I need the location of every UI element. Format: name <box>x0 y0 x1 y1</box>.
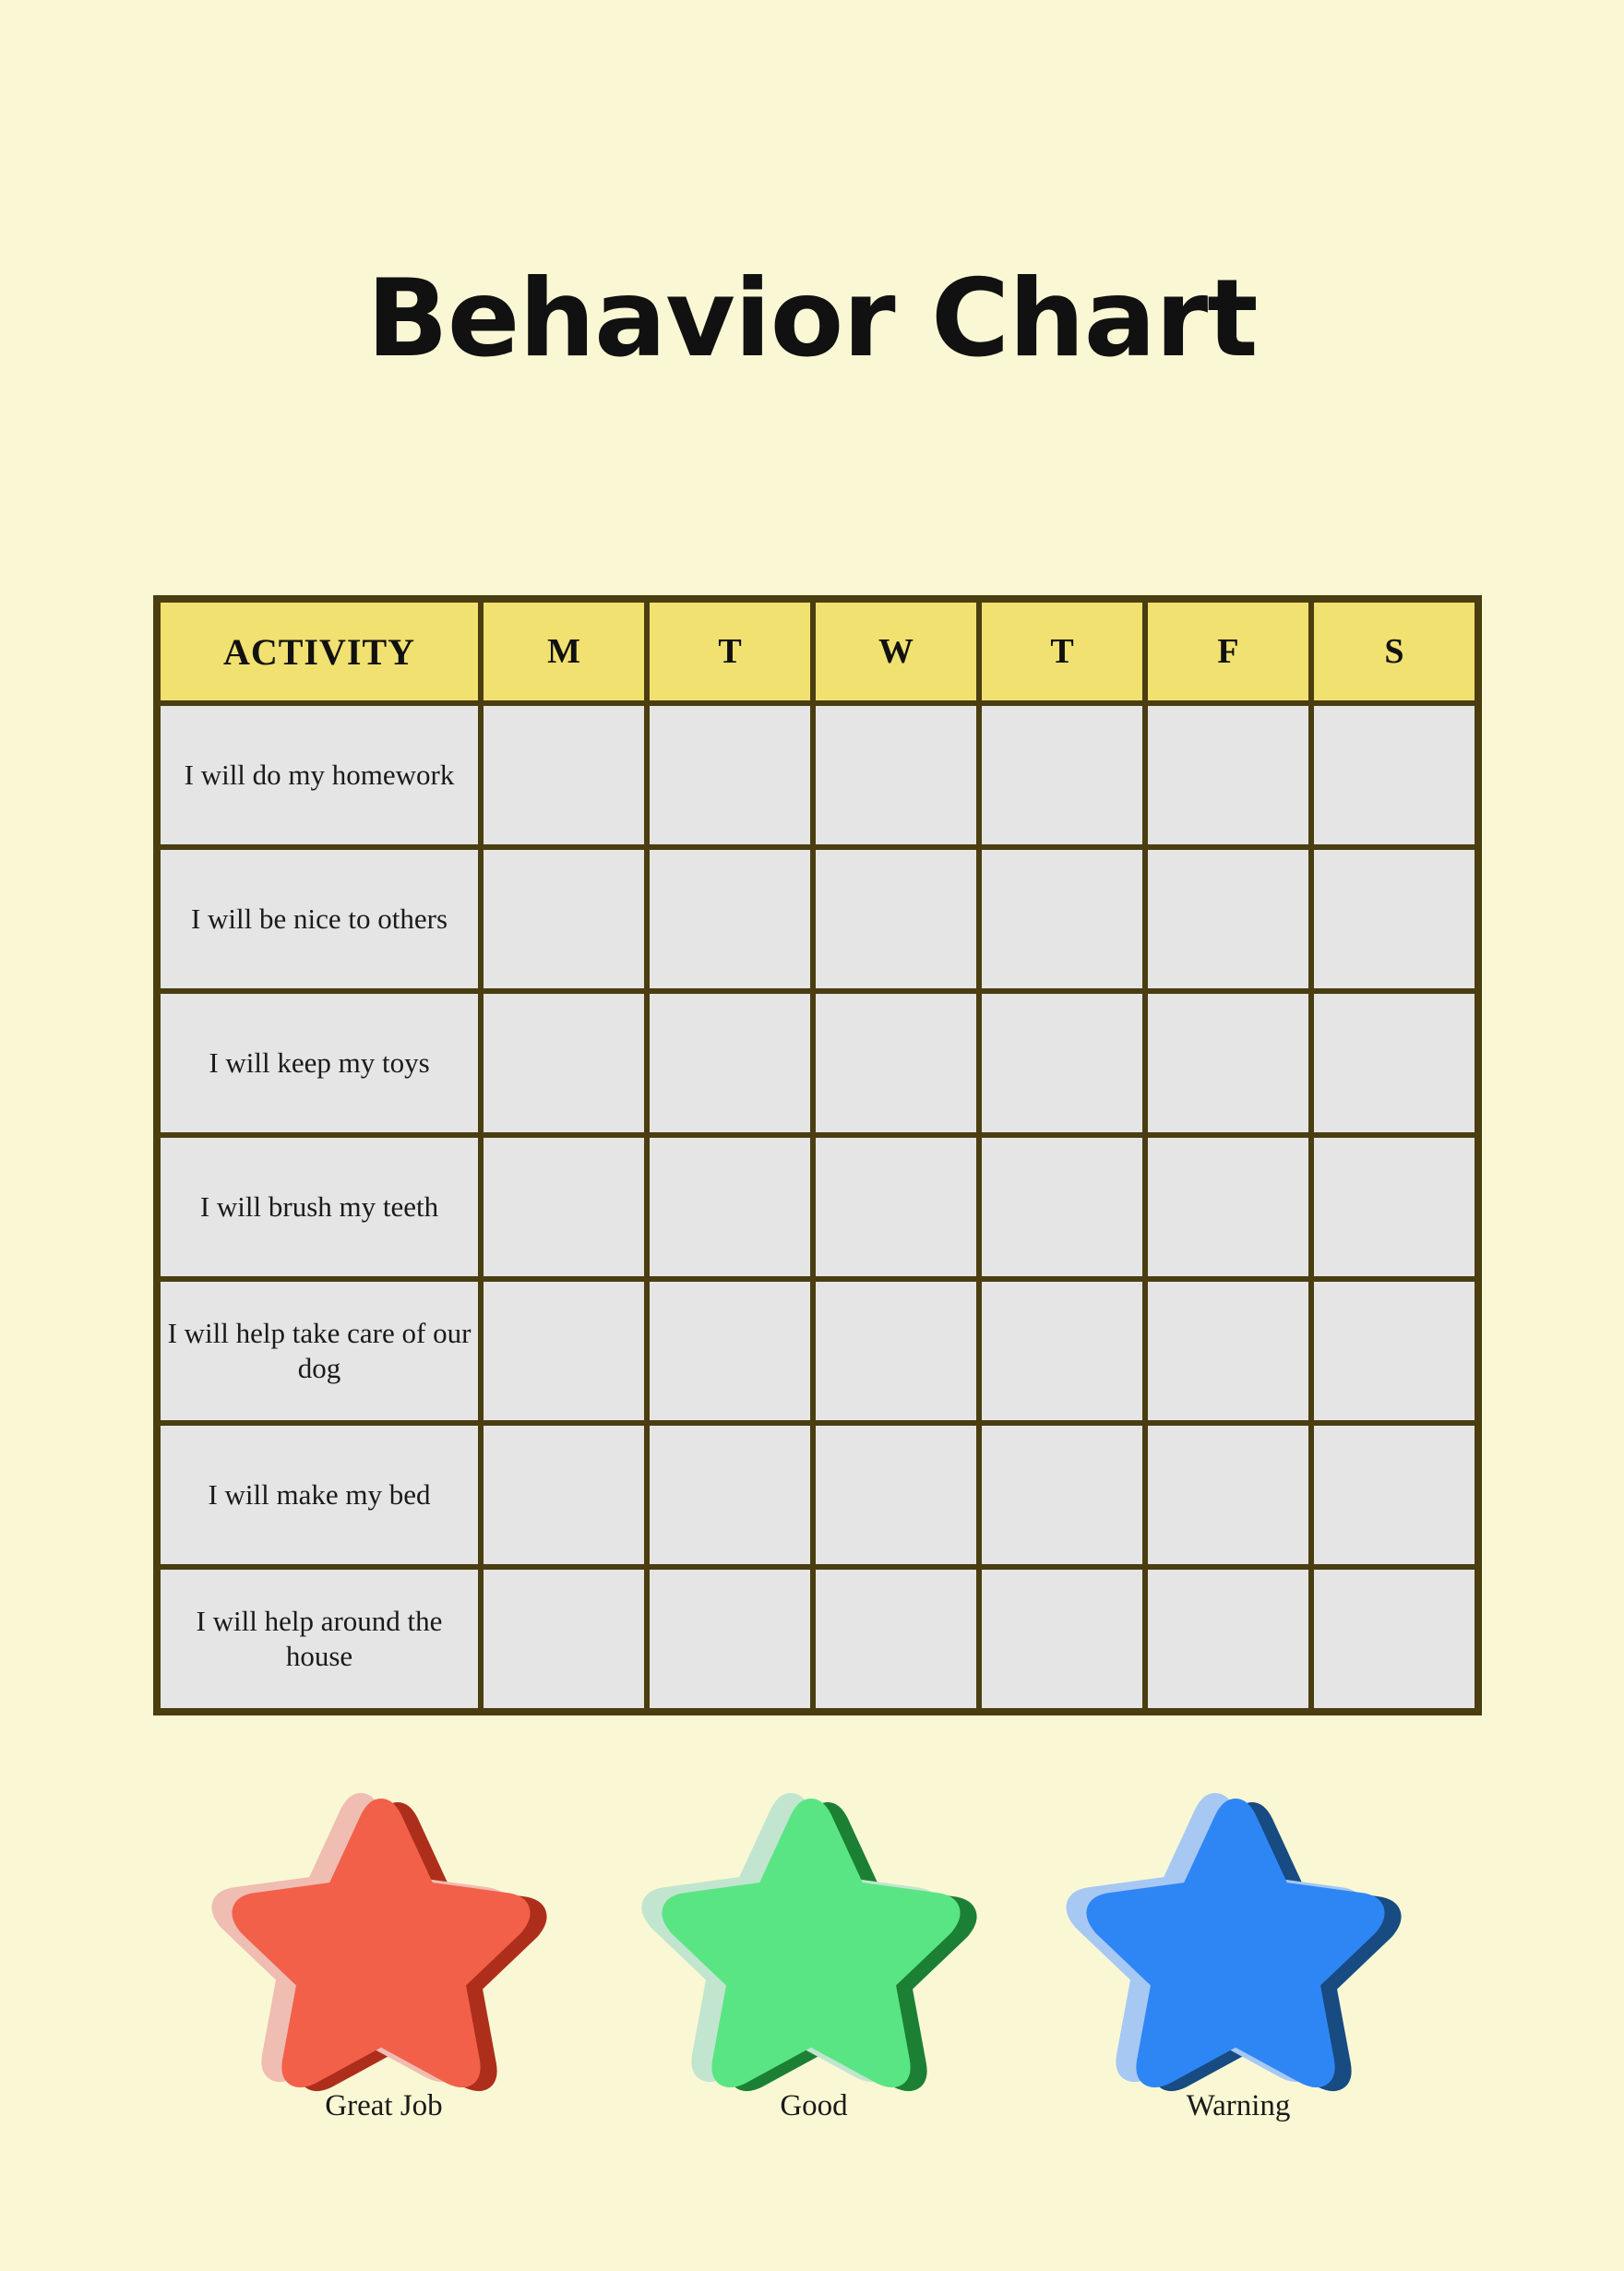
star-icon <box>250 1798 518 2074</box>
legend-item-warning: Warning <box>1045 1798 1432 2122</box>
table-header: ACTIVITY M T W T F S <box>158 600 1477 703</box>
mark-cell-saturday[interactable] <box>1311 1279 1477 1423</box>
mark-cell-thursday[interactable] <box>979 847 1145 991</box>
mark-cell-saturday[interactable] <box>1311 847 1477 991</box>
mark-cell-monday[interactable] <box>481 1567 647 1711</box>
activity-label: I will be nice to others <box>158 847 481 991</box>
mark-cell-friday[interactable] <box>1145 1567 1311 1711</box>
star-main-layer <box>680 1798 948 2074</box>
behavior-table: ACTIVITY M T W T F S I will do my homewo… <box>153 595 1482 1715</box>
mark-cell-wednesday[interactable] <box>813 1279 979 1423</box>
table-row: I will brush my teeth <box>158 1135 1477 1279</box>
mark-cell-tuesday[interactable] <box>647 1135 813 1279</box>
star-icon <box>1105 1798 1372 2074</box>
mark-cell-thursday[interactable] <box>979 1423 1145 1567</box>
mark-cell-tuesday[interactable] <box>647 1567 813 1711</box>
column-header-friday: F <box>1145 600 1311 703</box>
star-main-path <box>1098 1811 1372 2075</box>
column-header-monday: M <box>481 600 647 703</box>
table-row: I will do my homework <box>158 703 1477 847</box>
mark-cell-monday[interactable] <box>481 1135 647 1279</box>
legend: Great Job Good <box>153 1798 1475 2185</box>
behavior-table-container: ACTIVITY M T W T F S I will do my homewo… <box>153 595 1475 1715</box>
mark-cell-friday[interactable] <box>1145 991 1311 1135</box>
mark-cell-saturday[interactable] <box>1311 703 1477 847</box>
table-row: I will keep my toys <box>158 991 1477 1135</box>
table-row: I will make my bed <box>158 1423 1477 1567</box>
behavior-chart-page: Behavior Chart ACTIVITY M T W T F <box>0 0 1624 2271</box>
column-header-wednesday: W <box>813 600 979 703</box>
activity-label: I will make my bed <box>158 1423 481 1567</box>
mark-cell-thursday[interactable] <box>979 1567 1145 1711</box>
mark-cell-wednesday[interactable] <box>813 1567 979 1711</box>
mark-cell-monday[interactable] <box>481 847 647 991</box>
mark-cell-thursday[interactable] <box>979 1135 1145 1279</box>
mark-cell-thursday[interactable] <box>979 703 1145 847</box>
mark-cell-tuesday[interactable] <box>647 991 813 1135</box>
star-icon <box>680 1798 948 2074</box>
table-row: I will help take care of our dog <box>158 1279 1477 1423</box>
mark-cell-saturday[interactable] <box>1311 991 1477 1135</box>
mark-cell-saturday[interactable] <box>1311 1423 1477 1567</box>
page-title: Behavior Chart <box>0 266 1624 373</box>
legend-label: Warning <box>1045 2089 1432 2122</box>
mark-cell-wednesday[interactable] <box>813 1423 979 1567</box>
legend-item-great-job: Great Job <box>190 1798 578 2122</box>
mark-cell-saturday[interactable] <box>1311 1135 1477 1279</box>
mark-cell-wednesday[interactable] <box>813 991 979 1135</box>
mark-cell-tuesday[interactable] <box>647 1423 813 1567</box>
mark-cell-friday[interactable] <box>1145 847 1311 991</box>
mark-cell-saturday[interactable] <box>1311 1567 1477 1711</box>
column-header-activity: ACTIVITY <box>158 600 481 703</box>
mark-cell-tuesday[interactable] <box>647 847 813 991</box>
mark-cell-friday[interactable] <box>1145 1423 1311 1567</box>
mark-cell-friday[interactable] <box>1145 1279 1311 1423</box>
mark-cell-monday[interactable] <box>481 1279 647 1423</box>
star-main-layer <box>250 1798 518 2074</box>
table-row: I will be nice to others <box>158 847 1477 991</box>
mark-cell-friday[interactable] <box>1145 1135 1311 1279</box>
activity-label: I will help around the house <box>158 1567 481 1711</box>
table-header-row: ACTIVITY M T W T F S <box>158 600 1477 703</box>
mark-cell-wednesday[interactable] <box>813 703 979 847</box>
mark-cell-monday[interactable] <box>481 1423 647 1567</box>
mark-cell-wednesday[interactable] <box>813 847 979 991</box>
mark-cell-thursday[interactable] <box>979 991 1145 1135</box>
legend-label: Great Job <box>190 2089 578 2122</box>
mark-cell-friday[interactable] <box>1145 703 1311 847</box>
column-header-saturday: S <box>1311 600 1477 703</box>
table-row: I will help around the house <box>158 1567 1477 1711</box>
mark-cell-monday[interactable] <box>481 991 647 1135</box>
legend-item-good: Good <box>620 1798 1008 2122</box>
mark-cell-tuesday[interactable] <box>647 703 813 847</box>
column-header-tuesday: T <box>647 600 813 703</box>
mark-cell-monday[interactable] <box>481 703 647 847</box>
star-main-layer <box>1105 1798 1372 2074</box>
mark-cell-thursday[interactable] <box>979 1279 1145 1423</box>
mark-cell-tuesday[interactable] <box>647 1279 813 1423</box>
mark-cell-wednesday[interactable] <box>813 1135 979 1279</box>
legend-label: Good <box>620 2089 1008 2122</box>
star-main-path <box>674 1811 948 2075</box>
activity-label: I will brush my teeth <box>158 1135 481 1279</box>
table-body: I will do my homework I will be nice to … <box>158 703 1477 1711</box>
activity-label: I will help take care of our dog <box>158 1279 481 1423</box>
activity-label: I will keep my toys <box>158 991 481 1135</box>
column-header-thursday: T <box>979 600 1145 703</box>
star-main-path <box>244 1811 518 2075</box>
activity-label: I will do my homework <box>158 703 481 847</box>
